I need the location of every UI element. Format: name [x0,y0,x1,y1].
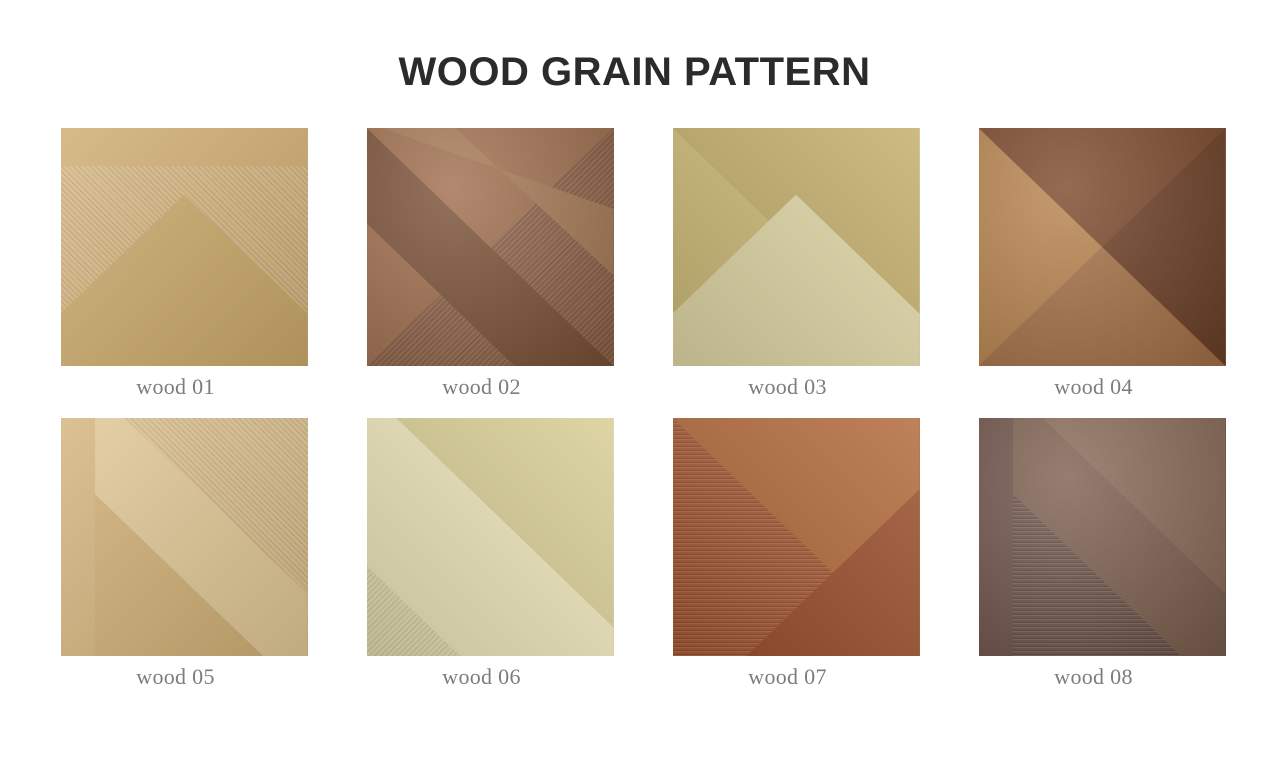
swatch-caption: wood 02 [329,374,635,400]
wood-tile-04[interactable] [979,128,1226,366]
wood-tile-05[interactable] [61,418,308,656]
swatch-card-wood-05[interactable]: wood 05 [23,418,329,708]
lighting-overlay-icon [367,128,614,366]
swatch-caption: wood 08 [941,664,1247,690]
lighting-overlay-icon [61,128,308,366]
swatch-card-wood-01[interactable]: wood 01 [23,128,329,418]
wood-tile-02[interactable] [367,128,614,366]
swatch-card-wood-07[interactable]: wood 07 [635,418,941,708]
swatch-card-wood-04[interactable]: wood 04 [941,128,1247,418]
lighting-overlay-icon [673,418,920,656]
swatch-card-wood-06[interactable]: wood 06 [329,418,635,708]
swatch-caption: wood 07 [635,664,941,690]
wood-swatch-grid: wood 01 wood 02 wood 03 [35,92,1235,708]
swatch-caption: wood 05 [23,664,329,690]
swatch-caption: wood 01 [23,374,329,400]
lighting-overlay-icon [367,418,614,656]
lighting-overlay-icon [979,128,1226,366]
lighting-overlay-icon [673,128,920,366]
lighting-overlay-icon [61,418,308,656]
wood-tile-03[interactable] [673,128,920,366]
lighting-overlay-icon [979,418,1226,656]
wood-tile-06[interactable] [367,418,614,656]
swatch-card-wood-08[interactable]: wood 08 [941,418,1247,708]
swatch-card-wood-02[interactable]: wood 02 [329,128,635,418]
wood-tile-07[interactable] [673,418,920,656]
swatch-caption: wood 03 [635,374,941,400]
swatch-card-wood-03[interactable]: wood 03 [635,128,941,418]
swatch-caption: wood 04 [941,374,1247,400]
page-title: WOOD GRAIN PATTERN [0,0,1269,92]
wood-tile-01[interactable] [61,128,308,366]
swatch-caption: wood 06 [329,664,635,690]
wood-tile-08[interactable] [979,418,1226,656]
